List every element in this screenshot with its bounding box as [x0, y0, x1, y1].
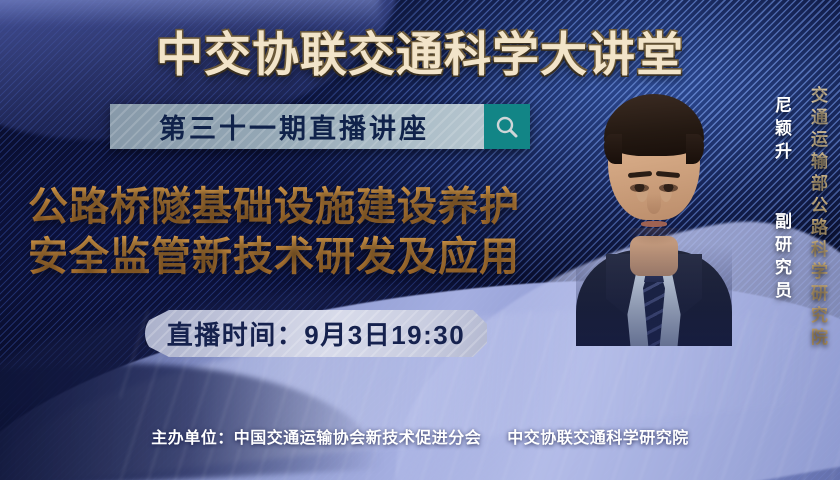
speaker-mouth — [641, 221, 667, 227]
speaker-eye-right — [659, 184, 678, 192]
broadcast-time-label: 直播时间：9月3日19:30 — [167, 315, 465, 352]
search-icon — [484, 104, 530, 149]
speaker-eye-left — [630, 184, 649, 192]
speaker-organization: 交通运输部公路科学研究院 — [805, 86, 830, 350]
lecture-headline: 公路桥隧基础设施建设养护 安全监管新技术研发及应用 — [28, 182, 588, 282]
episode-label: 第三十一期直播讲座 — [110, 104, 484, 149]
speaker-name: 尼颖升 — [769, 96, 794, 165]
page-title: 中交协联交通科学大讲堂 — [0, 16, 840, 85]
footer-organizer: 主办单位：中国交通运输协会新技术促进分会 — [151, 430, 481, 447]
broadcast-time-badge: 直播时间：9月3日19:30 — [145, 310, 487, 357]
speaker-nose — [647, 194, 661, 214]
speaker-eyebrow-left — [628, 171, 652, 178]
speaker-job-title: 副研究员 — [769, 212, 794, 304]
footer-institute: 中交协联交通科学研究院 — [507, 430, 689, 447]
speaker-portrait — [576, 78, 732, 346]
headline-line-2: 安全监管新技术研发及应用 — [28, 232, 588, 282]
speaker-chin-shadow — [624, 228, 684, 246]
speaker-eyebrow-right — [656, 171, 680, 178]
headline-line-1: 公路桥隧基础设施建设养护 — [28, 182, 588, 232]
footer: 主办单位：中国交通运输协会新技术促进分会中交协联交通科学研究院 — [0, 424, 840, 448]
speaker-hair — [604, 94, 704, 156]
episode-banner: 第三十一期直播讲座 — [110, 104, 530, 149]
live-stream-poster: 中交协联交通科学大讲堂 第三十一期直播讲座 公路桥隧基础设施建设养护 安全监管新… — [0, 0, 840, 480]
